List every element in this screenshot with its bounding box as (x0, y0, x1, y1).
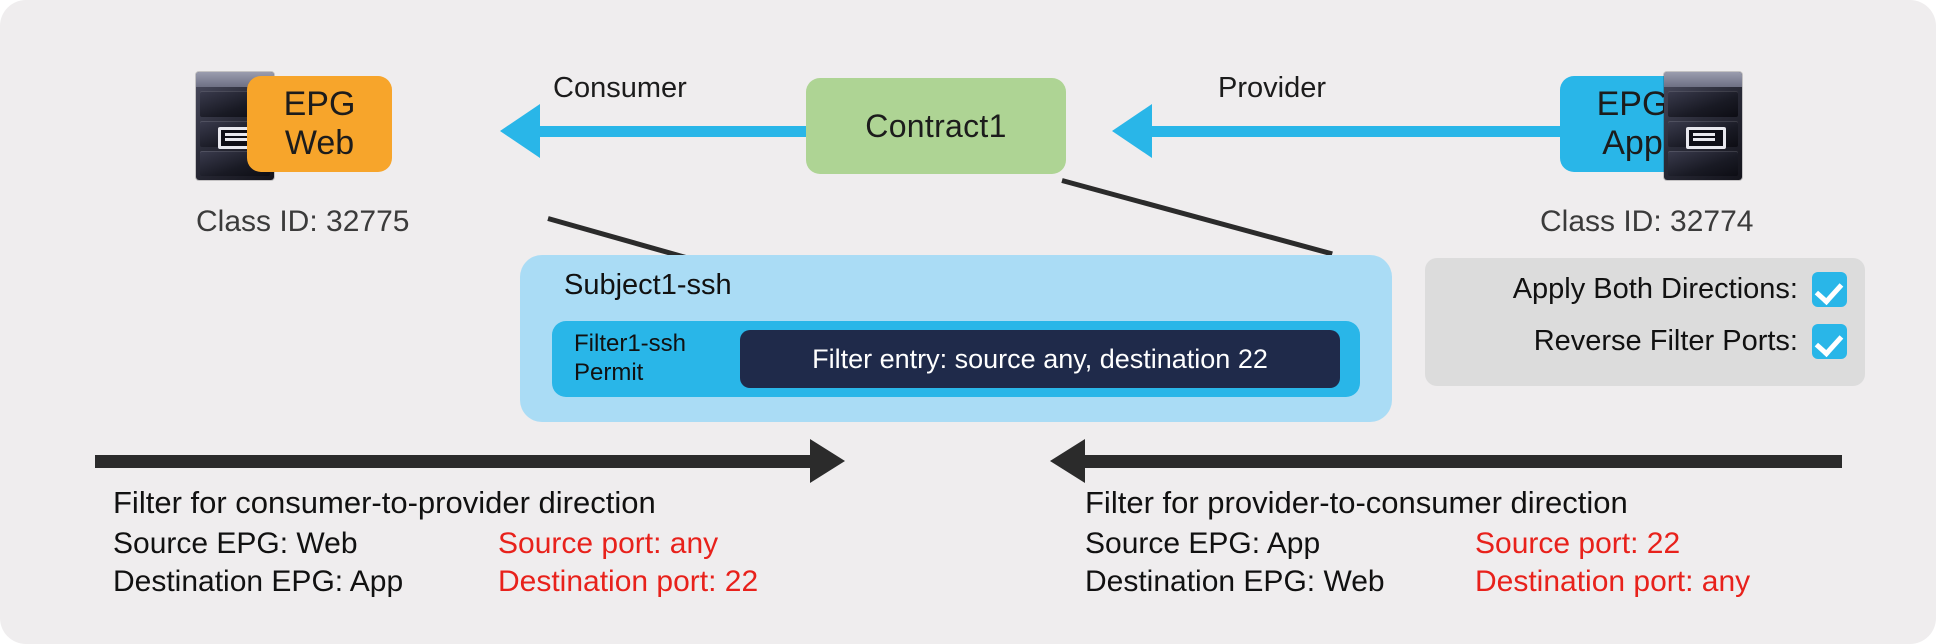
option-label: Apply Both Directions: (1513, 273, 1798, 306)
p2c-epg-column: Source EPG: App Destination EPG: Web (1085, 525, 1475, 602)
filter-row[interactable]: Filter1-ssh Permit Filter entry: source … (552, 321, 1360, 397)
server-top (1664, 72, 1742, 87)
p2c-destination-port: Destination port: any (1475, 563, 1750, 601)
epg-web-label: EPG Web (284, 85, 356, 163)
c2p-destination-port: Destination port: 22 (498, 563, 758, 601)
class-id-app: Class ID: 32774 (1540, 205, 1753, 239)
checkbox-checked-icon[interactable] (1812, 324, 1847, 359)
epg-web-node[interactable]: EPG Web (247, 76, 392, 172)
p2c-arrow-shaft (1085, 455, 1842, 468)
provider-arrow-head-icon (1112, 104, 1152, 158)
server-display-icon (1686, 127, 1726, 149)
option-apply-both-directions[interactable]: Apply Both Directions: (1513, 272, 1847, 307)
direction-block-p2c: Filter for provider-to-consumer directio… (1085, 485, 1750, 602)
subject-box[interactable]: Subject1-ssh Filter1-ssh Permit Filter e… (520, 255, 1392, 422)
c2p-destination-epg: Destination EPG: App (113, 563, 498, 601)
c2p-arrow-shaft (95, 455, 812, 468)
server-icon-app (1664, 72, 1742, 180)
subject-title: Subject1-ssh (564, 269, 732, 302)
epg-app-label: EPG App (1597, 85, 1669, 163)
server-bay (1668, 151, 1738, 176)
checkbox-checked-icon[interactable] (1812, 272, 1847, 307)
option-reverse-filter-ports[interactable]: Reverse Filter Ports: (1534, 324, 1847, 359)
p2c-port-column: Source port: 22 Destination port: any (1475, 525, 1750, 602)
filter-name: Filter1-ssh Permit (574, 329, 686, 388)
diagram-canvas: EPG Web Class ID: 32775 EPG App Class ID… (0, 0, 1936, 644)
provider-arrow-shaft (1152, 126, 1562, 137)
c2p-source-port: Source port: any (498, 525, 758, 563)
p2c-title: Filter for provider-to-consumer directio… (1085, 485, 1750, 521)
c2p-epg-column: Source EPG: Web Destination EPG: App (113, 525, 498, 602)
p2c-source-epg: Source EPG: App (1085, 525, 1475, 563)
contract-label: Contract1 (865, 108, 1006, 145)
filter-entry: Filter entry: source any, destination 22 (740, 330, 1340, 388)
provider-label: Provider (1218, 72, 1326, 105)
connector-right (1061, 178, 1333, 256)
c2p-port-column: Source port: any Destination port: 22 (498, 525, 758, 602)
p2c-arrow-head-icon (1050, 439, 1085, 483)
contract-node[interactable]: Contract1 (806, 78, 1066, 174)
c2p-title: Filter for consumer-to-provider directio… (113, 485, 758, 521)
c2p-arrow-head-icon (810, 439, 845, 483)
p2c-destination-epg: Destination EPG: Web (1085, 563, 1475, 601)
consumer-arrow-head-icon (500, 104, 540, 158)
p2c-source-port: Source port: 22 (1475, 525, 1750, 563)
class-id-web: Class ID: 32775 (196, 205, 409, 239)
c2p-source-epg: Source EPG: Web (113, 525, 498, 563)
consumer-arrow-shaft (540, 126, 806, 137)
option-label: Reverse Filter Ports: (1534, 325, 1798, 358)
contract-options-panel: Apply Both Directions: Reverse Filter Po… (1425, 258, 1865, 386)
direction-block-c2p: Filter for consumer-to-provider directio… (113, 485, 758, 602)
consumer-label: Consumer (553, 72, 687, 105)
server-bay (1668, 91, 1738, 117)
